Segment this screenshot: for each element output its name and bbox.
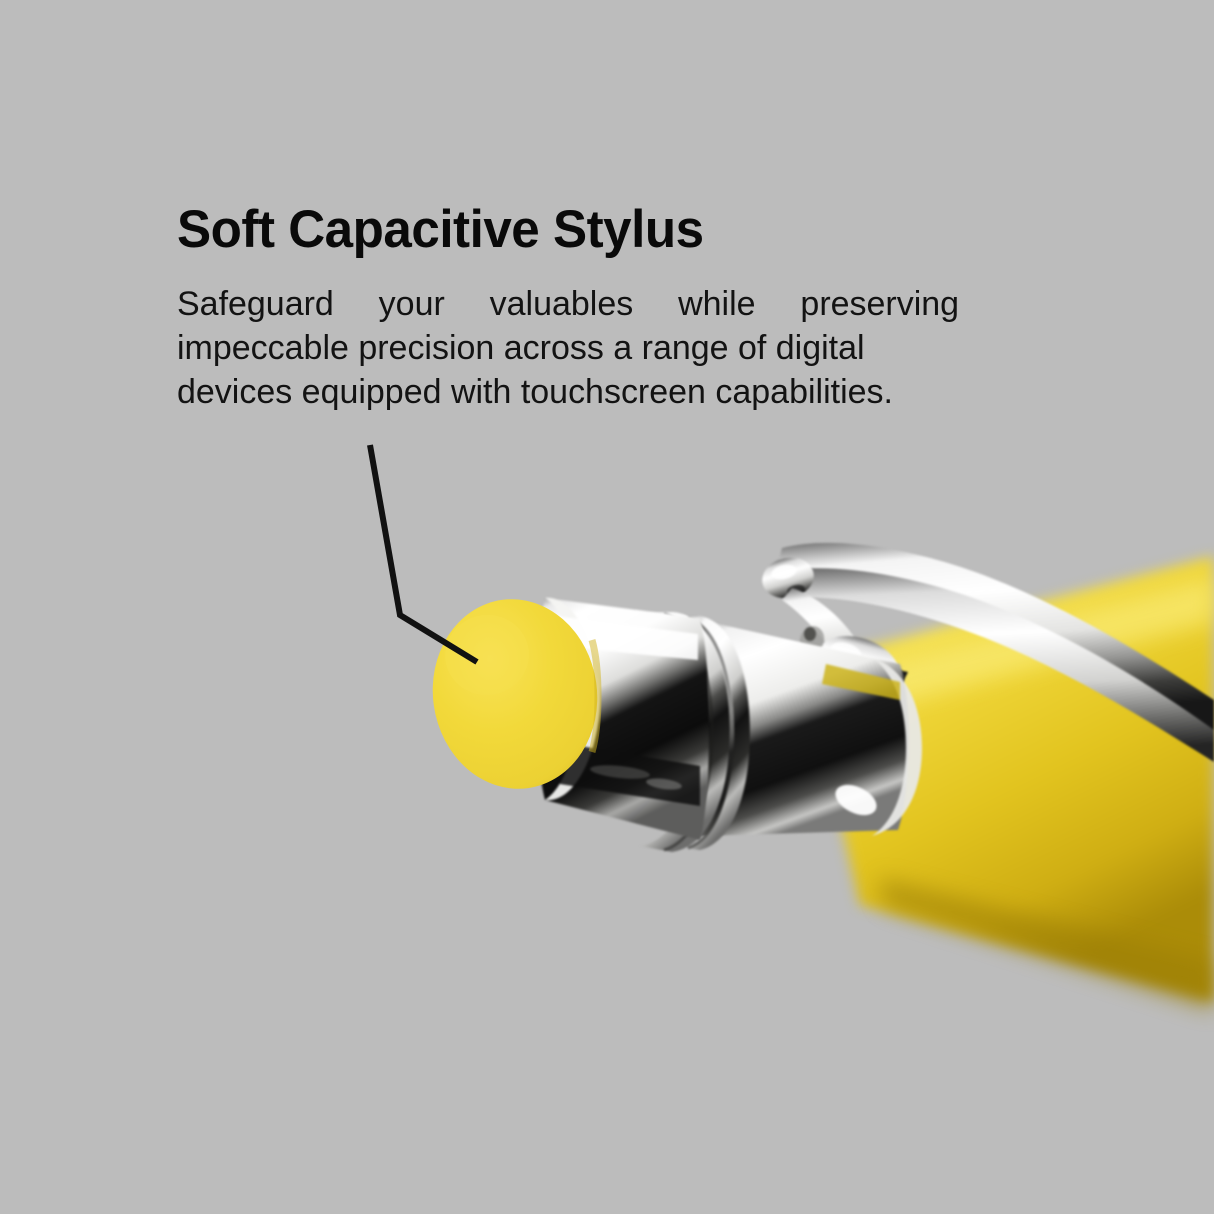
product-feature-image: Soft Capacitive Stylus Safeguard your va… <box>0 0 1214 1214</box>
description-line-3: devices equipped with touchscreen capabi… <box>177 370 959 414</box>
description-line-1: Safeguard your valuables while preservin… <box>177 285 959 323</box>
page-title: Soft Capacitive Stylus <box>177 200 943 260</box>
description-line-2: impeccable precision across a range of d… <box>177 329 865 367</box>
callout-leader-line <box>0 0 1214 1214</box>
leader-polyline <box>370 445 477 662</box>
feature-text-block: Soft Capacitive Stylus Safeguard your va… <box>177 200 971 414</box>
feature-description: Safeguard your valuables while preservin… <box>177 282 959 414</box>
